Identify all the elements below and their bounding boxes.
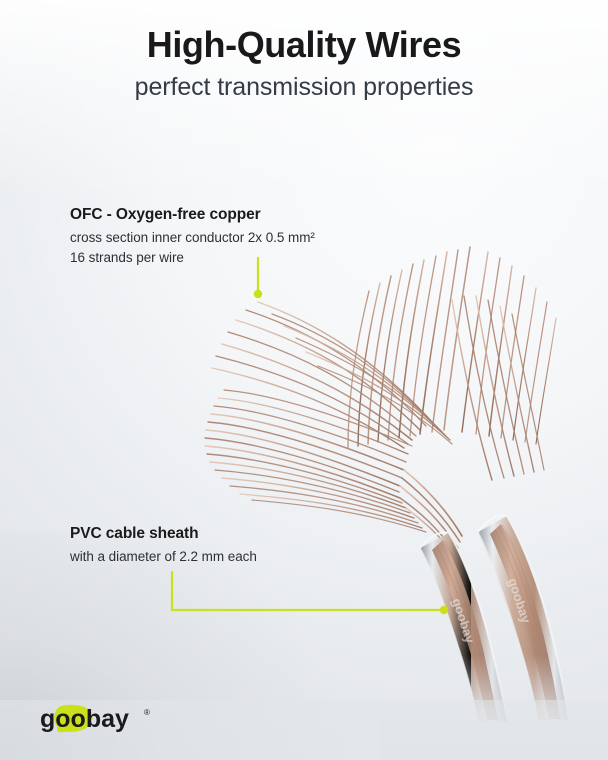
annotation-ofc-heading: OFC - Oxygen-free copper <box>70 205 315 225</box>
cable-artwork: goobay goobay <box>0 0 608 760</box>
annotation-pvc: PVC cable sheath with a diameter of 2.2 … <box>70 524 257 567</box>
infographic-canvas: goobay goobay <box>0 0 608 760</box>
page-title: High-Quality Wires <box>0 26 608 65</box>
annotation-ofc-details: cross section inner conductor 2x 0.5 mm²… <box>70 228 315 269</box>
header: High-Quality Wires perfect transmission … <box>0 26 608 102</box>
annotation-pvc-details: with a diameter of 2.2 mm each <box>70 547 257 567</box>
brand-logo: goobay ® <box>40 702 180 734</box>
annotation-ofc: OFC - Oxygen-free copper cross section i… <box>70 205 315 269</box>
annotation-ofc-line-2: 16 strands per wire <box>70 248 315 268</box>
page-subtitle: perfect transmission properties <box>0 72 608 102</box>
logo-wordmark: goobay <box>40 705 129 733</box>
logo-registered-mark: ® <box>144 708 150 717</box>
annotation-pvc-line-1: with a diameter of 2.2 mm each <box>70 547 257 567</box>
annotation-ofc-line-1: cross section inner conductor 2x 0.5 mm² <box>70 228 315 248</box>
annotation-pvc-heading: PVC cable sheath <box>70 524 257 544</box>
